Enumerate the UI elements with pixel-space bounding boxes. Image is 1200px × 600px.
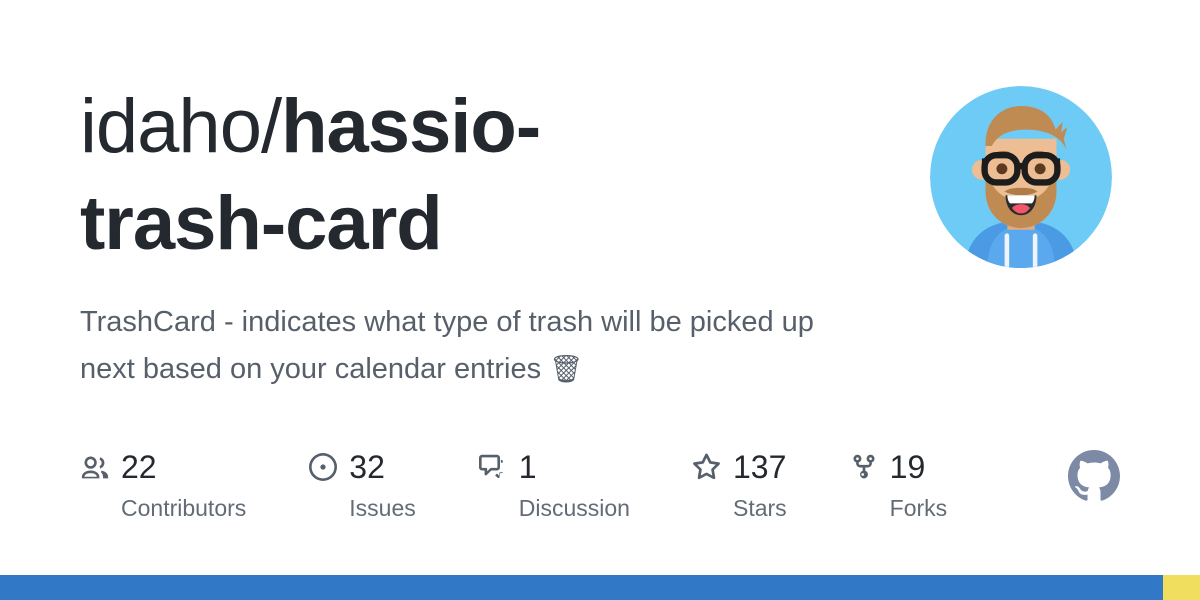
stat-value: 22 bbox=[121, 451, 157, 483]
language-segment-secondary bbox=[1163, 575, 1200, 600]
repo-social-preview-card: idaho/hassio-trash-card bbox=[0, 0, 1200, 600]
stat-top: 19 bbox=[849, 448, 926, 486]
stat-label: Contributors bbox=[80, 495, 246, 522]
avatar bbox=[930, 86, 1112, 268]
stat-stars: 137 Stars bbox=[692, 448, 787, 522]
stat-label: Discussion bbox=[478, 495, 630, 522]
language-segment-primary bbox=[0, 575, 1163, 600]
repo-forked-icon bbox=[849, 452, 879, 482]
people-icon bbox=[80, 452, 110, 482]
stat-value: 19 bbox=[890, 451, 926, 483]
stat-value: 1 bbox=[519, 451, 537, 483]
repo-description-text: TrashCard - indicates what type of trash… bbox=[80, 306, 814, 385]
repo-stats: 22 Contributors 32 Issues bbox=[80, 448, 1120, 522]
stat-issues: 32 Issues bbox=[308, 448, 415, 522]
language-bar bbox=[0, 575, 1200, 600]
stat-value: 32 bbox=[349, 451, 385, 483]
comment-discussion-icon bbox=[478, 452, 508, 482]
stat-top: 32 bbox=[308, 448, 385, 486]
issue-opened-icon bbox=[308, 452, 338, 482]
stat-discussion: 1 Discussion bbox=[478, 448, 630, 522]
header-row: idaho/hassio-trash-card bbox=[80, 78, 1120, 273]
star-icon bbox=[692, 452, 722, 482]
repo-description: TrashCard - indicates what type of trash… bbox=[80, 299, 840, 393]
page-title: idaho/hassio-trash-card bbox=[80, 78, 720, 273]
wastebasket-emoji-icon: 🗑 bbox=[549, 354, 583, 385]
github-mark-icon bbox=[1068, 450, 1120, 502]
stat-label: Forks bbox=[849, 495, 948, 522]
stat-top: 22 bbox=[80, 448, 157, 486]
stat-label: Issues bbox=[308, 495, 415, 522]
stat-forks: 19 Forks bbox=[849, 448, 948, 522]
repo-owner: idaho/ bbox=[80, 84, 281, 169]
stat-contributors: 22 Contributors bbox=[80, 448, 246, 522]
stat-value: 137 bbox=[733, 451, 786, 483]
stat-top: 1 bbox=[478, 448, 537, 486]
stat-label: Stars bbox=[692, 495, 787, 522]
stat-top: 137 bbox=[692, 448, 786, 486]
